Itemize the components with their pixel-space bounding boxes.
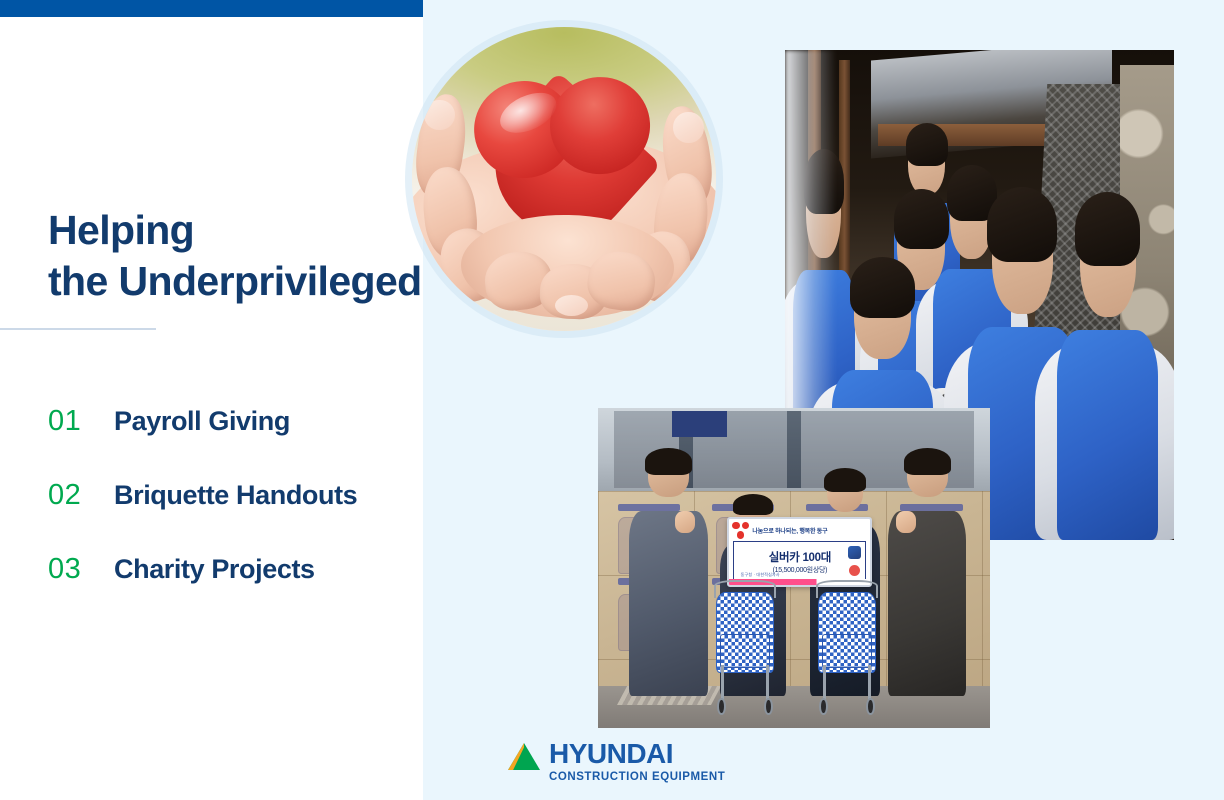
hair — [733, 494, 773, 516]
logo-text-block: HYUNDAI CONSTRUCTION EQUIPMENT — [549, 740, 725, 784]
cart-leg — [766, 665, 769, 702]
person-clapping-left — [629, 453, 707, 696]
cart-leg — [868, 665, 871, 702]
wayfinding-sign — [672, 411, 727, 437]
list-item[interactable]: 02 Briquette Handouts — [48, 479, 428, 553]
list-item-number: 01 — [48, 405, 114, 438]
banner-header: 나눔으로 하나되는, 행복한 동구 — [729, 519, 870, 542]
triangle-icon — [508, 743, 540, 770]
left-white-panel — [0, 0, 423, 800]
volunteer-person — [1057, 202, 1158, 540]
top-accent-bar — [0, 0, 423, 17]
cart-bag-flap — [822, 634, 873, 668]
hair — [824, 468, 866, 493]
suit — [629, 511, 707, 696]
cart-bag-flap — [720, 634, 771, 668]
list-item[interactable]: 01 Payroll Giving — [48, 405, 428, 479]
list-item-label: Charity Projects — [114, 554, 315, 585]
logo-tagline: CONSTRUCTION EQUIPMENT — [549, 772, 725, 784]
page-title: Helping the Underprivileged — [48, 205, 648, 307]
hair — [987, 187, 1057, 262]
slide-root: Helping the Underprivileged 01 Payroll G… — [0, 0, 1224, 800]
cart-leg — [721, 665, 724, 702]
hair — [906, 123, 948, 166]
list-item-number: 03 — [48, 553, 114, 586]
silver-cart — [712, 584, 779, 715]
banner-amount: (15,500,000원상당) — [773, 565, 828, 575]
jacket — [888, 511, 966, 696]
cart-wheel — [819, 698, 828, 715]
person-clapping-right — [888, 453, 966, 696]
hair — [645, 448, 692, 475]
hair — [904, 448, 951, 475]
hand — [896, 511, 916, 533]
banner-headline: 실버카 100대 — [769, 549, 831, 565]
fingernail — [424, 100, 454, 130]
cart-wheel — [764, 698, 773, 715]
list-item-label: Briquette Handouts — [114, 480, 357, 511]
silver-cart — [814, 584, 881, 715]
banner-slogan: 나눔으로 하나되는, 행복한 동구 — [752, 526, 827, 535]
list-item-label: Payroll Giving — [114, 406, 290, 437]
title-divider — [0, 328, 156, 330]
clover-logo-icon — [732, 522, 749, 539]
blue-vest — [1057, 330, 1158, 540]
list-item[interactable]: 03 Charity Projects — [48, 553, 428, 627]
banner-footer-text: 동구청 · 대한적십자사 — [741, 572, 780, 578]
logo-wordmark: HYUNDAI — [549, 740, 725, 768]
cart-wheel — [866, 698, 875, 715]
cart-wheel — [717, 698, 726, 715]
hyundai-logo: HYUNDAI CONSTRUCTION EQUIPMENT — [508, 740, 725, 784]
cart-leg — [823, 665, 826, 702]
hand — [675, 511, 695, 533]
topics-list: 01 Payroll Giving 02 Briquette Handouts … — [48, 405, 428, 627]
hair — [1075, 192, 1140, 266]
fingernail — [673, 112, 703, 142]
donation-ceremony-photo: 나눔으로 하나되는, 행복한 동구 실버카 100대 (15,500,000원상… — [598, 408, 990, 728]
donation-banner: 나눔으로 하나되는, 행복한 동구 실버카 100대 (15,500,000원상… — [727, 517, 872, 587]
list-item-number: 02 — [48, 479, 114, 512]
clover-emblem-icon — [849, 565, 860, 576]
hair — [850, 257, 915, 317]
organization-emblem-icon — [848, 546, 861, 559]
